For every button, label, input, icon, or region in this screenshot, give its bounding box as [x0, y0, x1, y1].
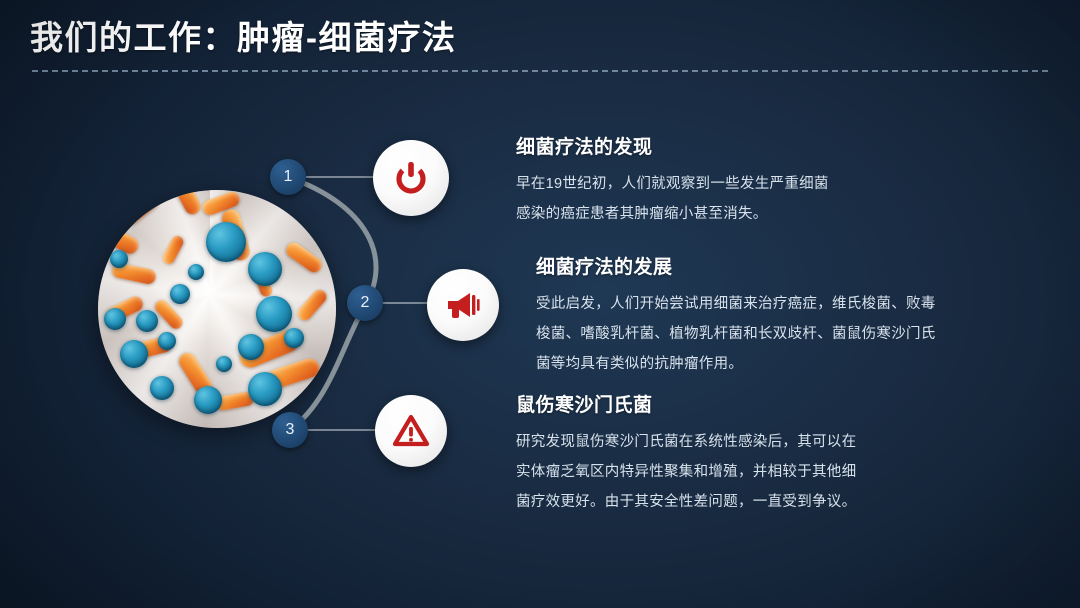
bacteria-coccus — [206, 222, 246, 262]
bacteria-coccus — [104, 308, 126, 330]
bacteria-coccus — [110, 250, 128, 268]
bacteria-tumor-microscopy-image — [98, 190, 336, 428]
body-line: 感染的癌症患者其肿瘤缩小甚至消失。 — [516, 199, 986, 229]
body-line: 菌疗效更好。由于其安全性差问题，一直受到争议。 — [516, 487, 986, 517]
megaphone-icon — [444, 286, 482, 324]
bacteria-coccus — [170, 284, 190, 304]
bacteria-coccus — [248, 252, 282, 286]
step-badge-2[interactable]: 2 — [347, 285, 383, 321]
bacteria-coccus — [188, 264, 204, 280]
body-line: 受此启发，人们开始尝试用细菌来治疗癌症，维氏梭菌、败毒 — [536, 289, 996, 319]
bacteria-coccus — [136, 310, 158, 332]
bacteria-coccus — [256, 296, 292, 332]
step-body-2: 受此启发，人们开始尝试用细菌来治疗癌症，维氏梭菌、败毒 梭菌、嗜酸乳杆菌、植物乳… — [536, 289, 996, 379]
step-heading-1: 细菌疗法的发现 — [516, 132, 986, 159]
step-text-block-1: 细菌疗法的发现 早在19世纪初，人们就观察到一些发生严重细菌 感染的癌症患者其肿… — [516, 132, 986, 229]
step-heading-2: 细菌疗法的发展 — [536, 252, 996, 279]
bacteria-coccus — [284, 328, 304, 348]
step-text-block-3: 鼠伤寒沙门氏菌 研究发现鼠伤寒沙门氏菌在系统性感染后，其可以在 实体瘤乏氧区内特… — [516, 390, 986, 517]
page-title: 我们的工作：肿瘤-细菌疗法 — [30, 18, 1050, 58]
bacteria-coccus — [150, 376, 174, 400]
step-badge-3[interactable]: 3 — [272, 412, 308, 448]
power-icon — [391, 158, 431, 198]
title-divider — [32, 70, 1048, 72]
bacteria-coccus — [120, 340, 148, 368]
bacteria-coccus — [194, 386, 222, 414]
bacteria-coccus — [216, 356, 232, 372]
step-icon-button-2[interactable] — [427, 269, 499, 341]
bacteria-coccus — [158, 332, 176, 350]
warning-triangle-icon — [392, 412, 430, 450]
step-badge-1[interactable]: 1 — [270, 159, 306, 195]
body-line: 实体瘤乏氧区内特异性聚集和增殖，并相较于其他细 — [516, 457, 986, 487]
body-line: 研究发现鼠伤寒沙门氏菌在系统性感染后，其可以在 — [516, 427, 986, 457]
step-icon-button-3[interactable] — [375, 395, 447, 467]
step-text-block-2: 细菌疗法的发展 受此启发，人们开始尝试用细菌来治疗癌症，维氏梭菌、败毒 梭菌、嗜… — [536, 252, 996, 379]
bacteria-coccus — [238, 334, 264, 360]
step-body-3: 研究发现鼠伤寒沙门氏菌在系统性感染后，其可以在 实体瘤乏氧区内特异性聚集和增殖，… — [516, 427, 986, 517]
title-block: 我们的工作：肿瘤-细菌疗法 — [30, 18, 1050, 58]
step-heading-3: 鼠伤寒沙门氏菌 — [516, 390, 986, 417]
body-line: 菌等均具有类似的抗肿瘤作用。 — [536, 349, 996, 379]
bacteria-coccus — [248, 372, 282, 406]
step-icon-button-1[interactable] — [373, 140, 449, 216]
body-line: 早在19世纪初，人们就观察到一些发生严重细菌 — [516, 169, 986, 199]
step-body-1: 早在19世纪初，人们就观察到一些发生严重细菌 感染的癌症患者其肿瘤缩小甚至消失。 — [516, 169, 986, 229]
presentation-slide: 我们的工作：肿瘤-细菌疗法 — [0, 0, 1080, 608]
body-line: 梭菌、嗜酸乳杆菌、植物乳杆菌和长双歧杆、菌鼠伤寒沙门氏 — [536, 319, 996, 349]
